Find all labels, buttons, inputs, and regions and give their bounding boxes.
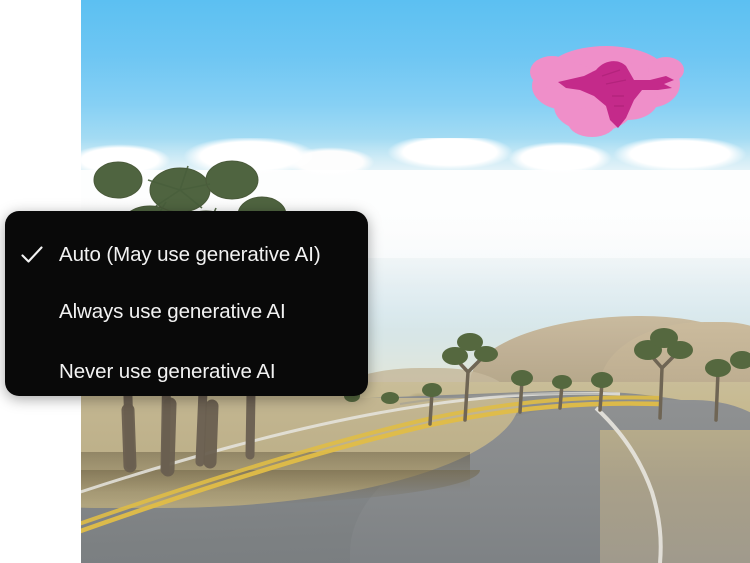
menu-item-label: Auto (May use generative AI)	[59, 245, 321, 266]
menu-item-always[interactable]: Always use generative AI	[5, 290, 368, 334]
menu-item-auto[interactable]: Auto (May use generative AI)	[5, 233, 368, 277]
menu-item-label: Always use generative AI	[59, 302, 286, 323]
pink-bird-sticker	[522, 34, 688, 144]
checkmark-icon	[5, 246, 59, 264]
menu-item-never[interactable]: Never use generative AI	[5, 350, 368, 394]
generative-ai-mode-menu[interactable]: Auto (May use generative AI) Always use …	[5, 211, 368, 396]
menu-item-label: Never use generative AI	[59, 362, 276, 383]
screenshot-stage: Auto (May use generative AI) Always use …	[0, 0, 750, 563]
